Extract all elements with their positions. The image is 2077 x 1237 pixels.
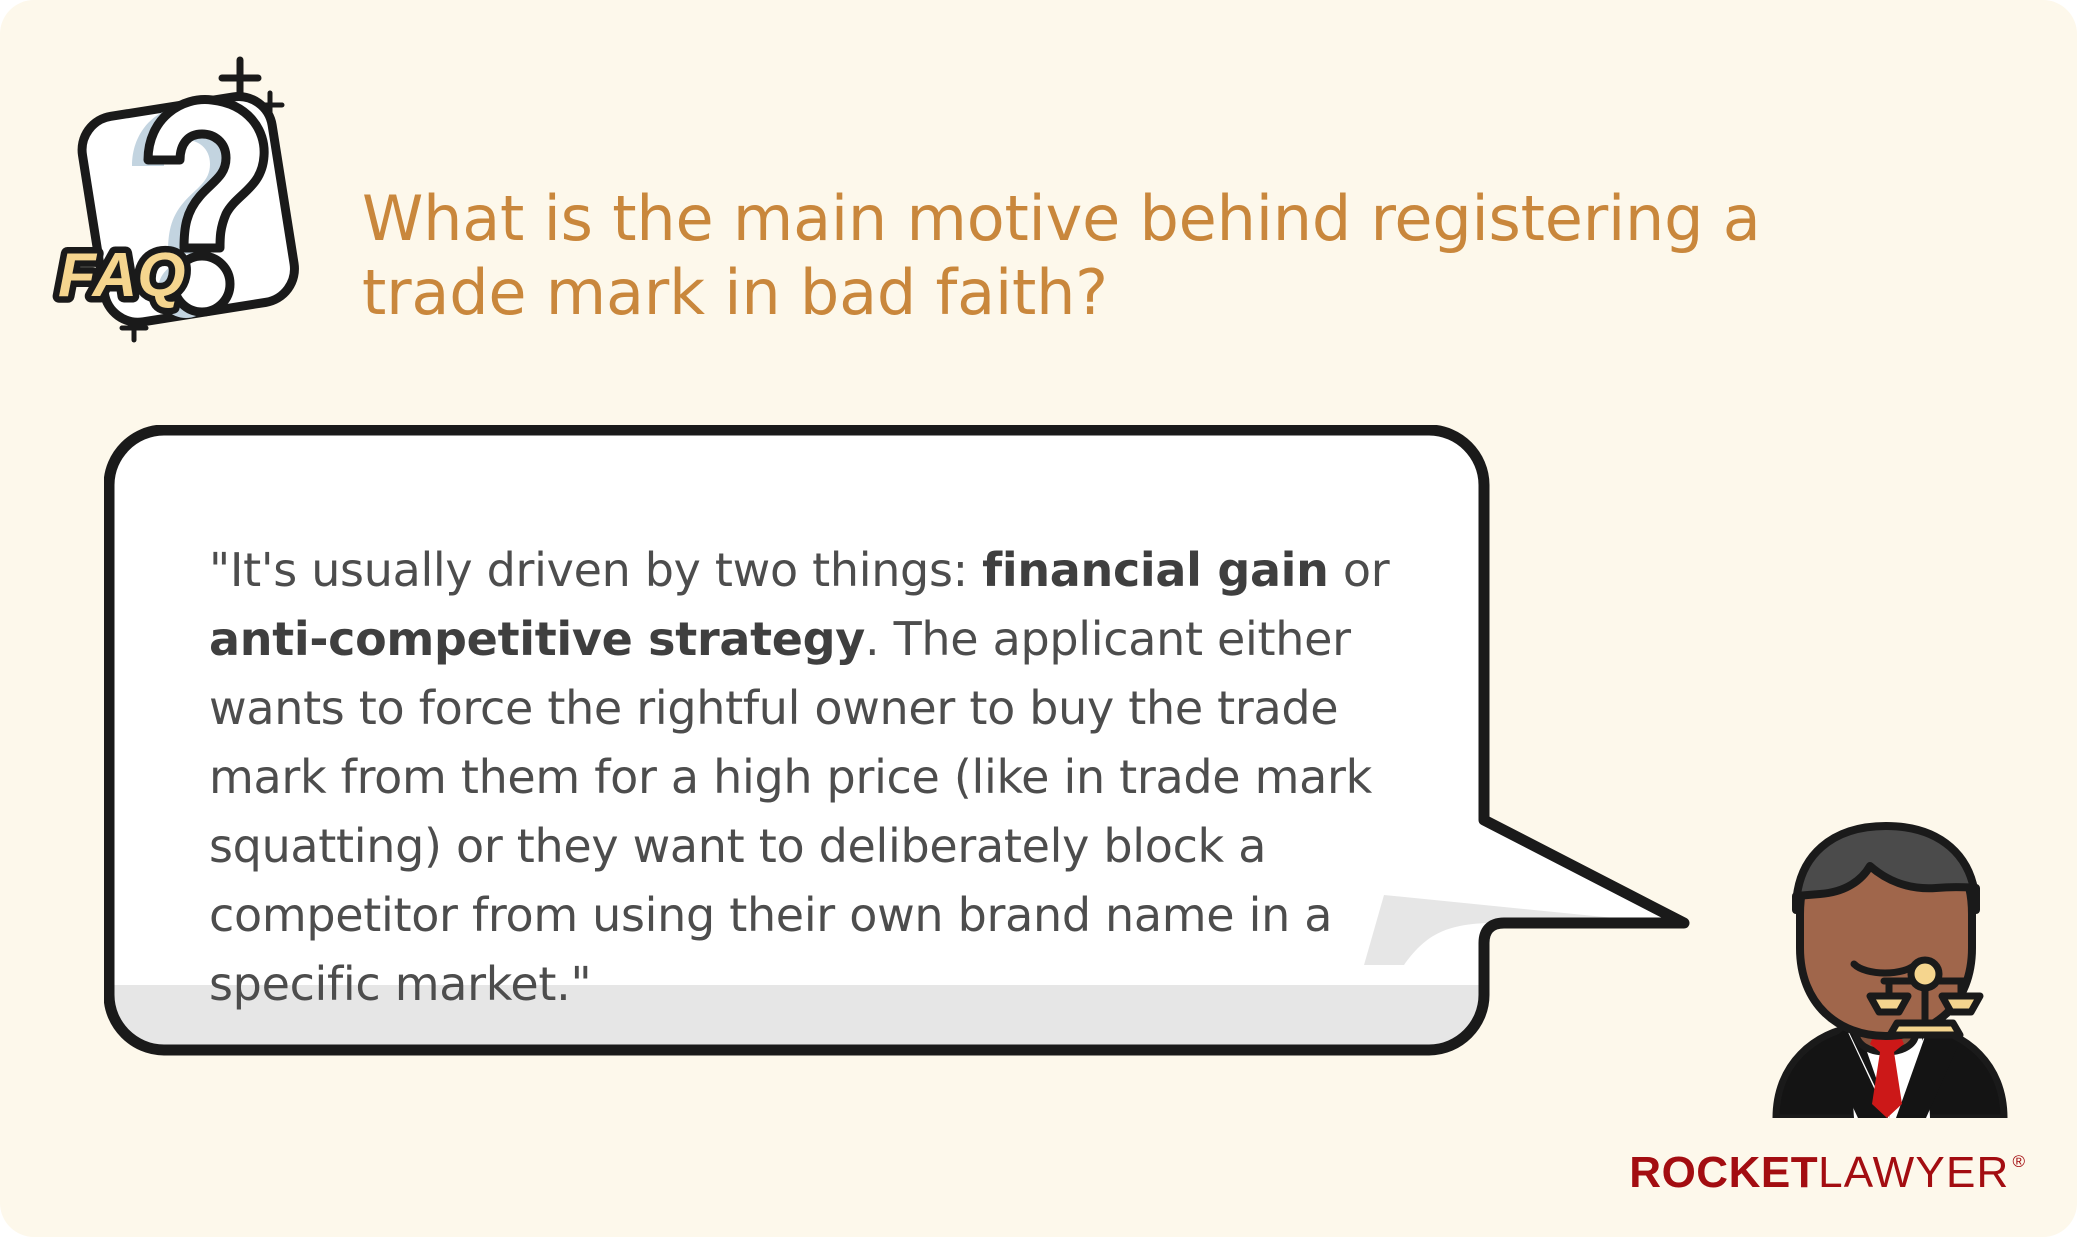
lawyer-avatar (1758, 818, 2008, 1118)
answer-quote-text: "It's usually driven by two things: fina… (209, 536, 1459, 1019)
svg-text:FAQ: FAQ (58, 241, 185, 310)
brand-lawyer-text: LAWYER (1818, 1151, 2009, 1195)
registered-trademark-icon: ® (2012, 1153, 2025, 1170)
faq-question-mark-icon: FAQ FAQ (44, 48, 324, 348)
speech-bubble: "It's usually driven by two things: fina… (104, 425, 1724, 1125)
faq-answer-card: FAQ FAQ What is the main motive behind r… (0, 0, 2077, 1237)
rocket-lawyer-logo: ROCKET LAWYER ® (1629, 1151, 2025, 1195)
page-title: What is the main motive behind registeri… (362, 182, 1922, 331)
faq-badge: FAQ FAQ (58, 241, 185, 310)
sparkle-icon (222, 60, 258, 96)
brand-rocket-text: ROCKET (1629, 1151, 1818, 1195)
